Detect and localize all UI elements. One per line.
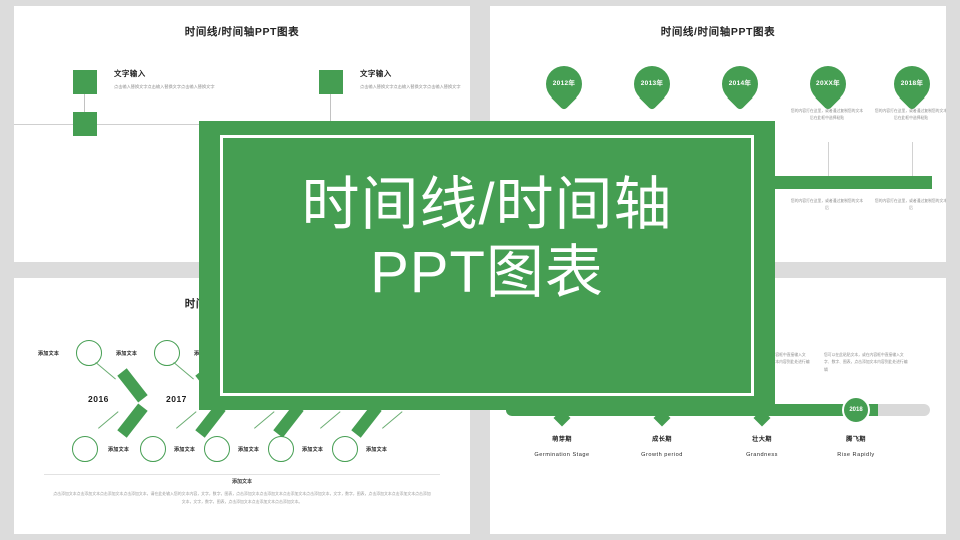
pin-year-label: 2012年 — [546, 77, 582, 87]
node-label: 添加文本 — [238, 446, 259, 453]
cover-overlay: 时间线/时间轴 PPT图表 — [199, 121, 775, 410]
pin-year-label: 2013年 — [634, 77, 670, 87]
chevron-arm — [117, 368, 147, 402]
map-pin-icon[interactable]: 2012年 — [546, 66, 582, 102]
stage-name-en: Growth period — [607, 452, 717, 458]
pin-year-label: 2018年 — [894, 77, 930, 87]
footer-body: 点击添加文本点击添加文本点击添加文本点击添加文本，请在此处输入您的文本内容，文字… — [52, 490, 432, 506]
node-connector — [320, 411, 341, 428]
timeline-node-square[interactable] — [73, 112, 97, 136]
progress-knob[interactable]: 2018 — [842, 396, 870, 424]
node-label: 添加文本 — [174, 446, 195, 453]
node-label: 添加文本 — [108, 446, 129, 453]
node-label: 添加文本 — [302, 446, 323, 453]
pin-year-label: 2014年 — [722, 77, 758, 87]
overlay-title-line2: PPT图表 — [199, 239, 775, 307]
timeline-node-circle[interactable] — [268, 436, 294, 462]
footer-heading: 添加文本 — [14, 478, 470, 485]
knob-year-label: 2018 — [844, 407, 868, 413]
chevron-year-label: 2016 — [88, 394, 109, 404]
stage-item: 腾飞期 Rise Rapidly — [801, 434, 911, 458]
overlay-title: 时间线/时间轴 PPT图表 — [199, 171, 775, 308]
content-block-body: 点击输入替换文字点击输入替换文字点击输入替换文字 — [114, 83, 264, 91]
stage-name-cn: 成长期 — [607, 434, 717, 443]
overlay-title-line1: 时间线/时间轴 — [199, 171, 775, 239]
timeline-node-circle[interactable] — [140, 436, 166, 462]
content-block: 文字输入 点击输入替换文字点击输入替换文字点击输入替换文字 — [360, 68, 470, 91]
timeline-note: 您的内容打在这里，或者通过复制您的文本后 — [874, 198, 946, 212]
divider — [44, 474, 440, 475]
page-title: 时间线/时间轴PPT图表 — [14, 24, 470, 39]
timeline-node-square[interactable] — [73, 70, 97, 94]
stage-item: 萌芽期 Germination Stage — [507, 434, 617, 458]
map-pin-icon[interactable]: 2018年 — [894, 66, 930, 102]
map-pin-icon[interactable]: 20XX年 — [810, 66, 846, 102]
stage-name-en: Rise Rapidly — [801, 452, 911, 458]
chevron-year-label: 2017 — [166, 394, 187, 404]
timeline-node-circle[interactable] — [332, 436, 358, 462]
node-connector — [173, 362, 194, 379]
stage-name-cn: 腾飞期 — [801, 434, 911, 443]
map-pin-icon[interactable]: 2014年 — [722, 66, 758, 102]
pin-year-label: 20XX年 — [810, 77, 846, 87]
node-connector — [95, 362, 116, 379]
stage-name-en: Germination Stage — [507, 452, 617, 458]
page-title: 时间线/时间轴PPT图表 — [490, 24, 946, 39]
content-block-heading: 文字输入 — [114, 68, 264, 79]
pin-connector-line — [912, 142, 913, 176]
content-block-heading: 文字输入 — [360, 68, 470, 79]
content-block: 文字输入 点击输入替换文字点击输入替换文字点击输入替换文字 — [114, 68, 264, 91]
timeline-note: 您的内容打在这里，或者通过复制您的文本后 — [790, 198, 864, 212]
content-block-body: 点击输入替换文字点击输入替换文字点击输入替换文字 — [360, 83, 470, 91]
pin-description: 您的内容打在这里，或者通过复制您的文本后在此框中选择粘贴 — [790, 108, 864, 122]
node-label: 添加文本 — [38, 350, 59, 357]
timeline-node-circle[interactable] — [204, 436, 230, 462]
stage-description: 您可以在此粘贴文本，或在内容框中直接输入文字、数字、图表，点击添加文本内容到此处… — [824, 352, 910, 374]
node-label: 添加文本 — [366, 446, 387, 453]
stage-name-cn: 萌芽期 — [507, 434, 617, 443]
map-pin-icon[interactable]: 2013年 — [634, 66, 670, 102]
timeline-node-square[interactable] — [319, 70, 343, 94]
pin-description: 您的内容打在这里，或者通过复制您的文本后在此框中选择粘贴 — [874, 108, 946, 122]
chevron-arrow-icon[interactable] — [114, 370, 154, 422]
node-label: 添加文本 — [116, 350, 137, 357]
stage-item: 成长期 Growth period — [607, 434, 717, 458]
chevron-arm — [117, 404, 147, 438]
presentation-preview-canvas: 时间线/时间轴PPT图表 文字输入 点击输入替换文字点击输入替换文字点击输入替换… — [0, 0, 960, 540]
timeline-node-circle[interactable] — [76, 340, 102, 366]
timeline-node-circle[interactable] — [154, 340, 180, 366]
pin-connector-line — [828, 142, 829, 176]
timeline-node-circle[interactable] — [72, 436, 98, 462]
